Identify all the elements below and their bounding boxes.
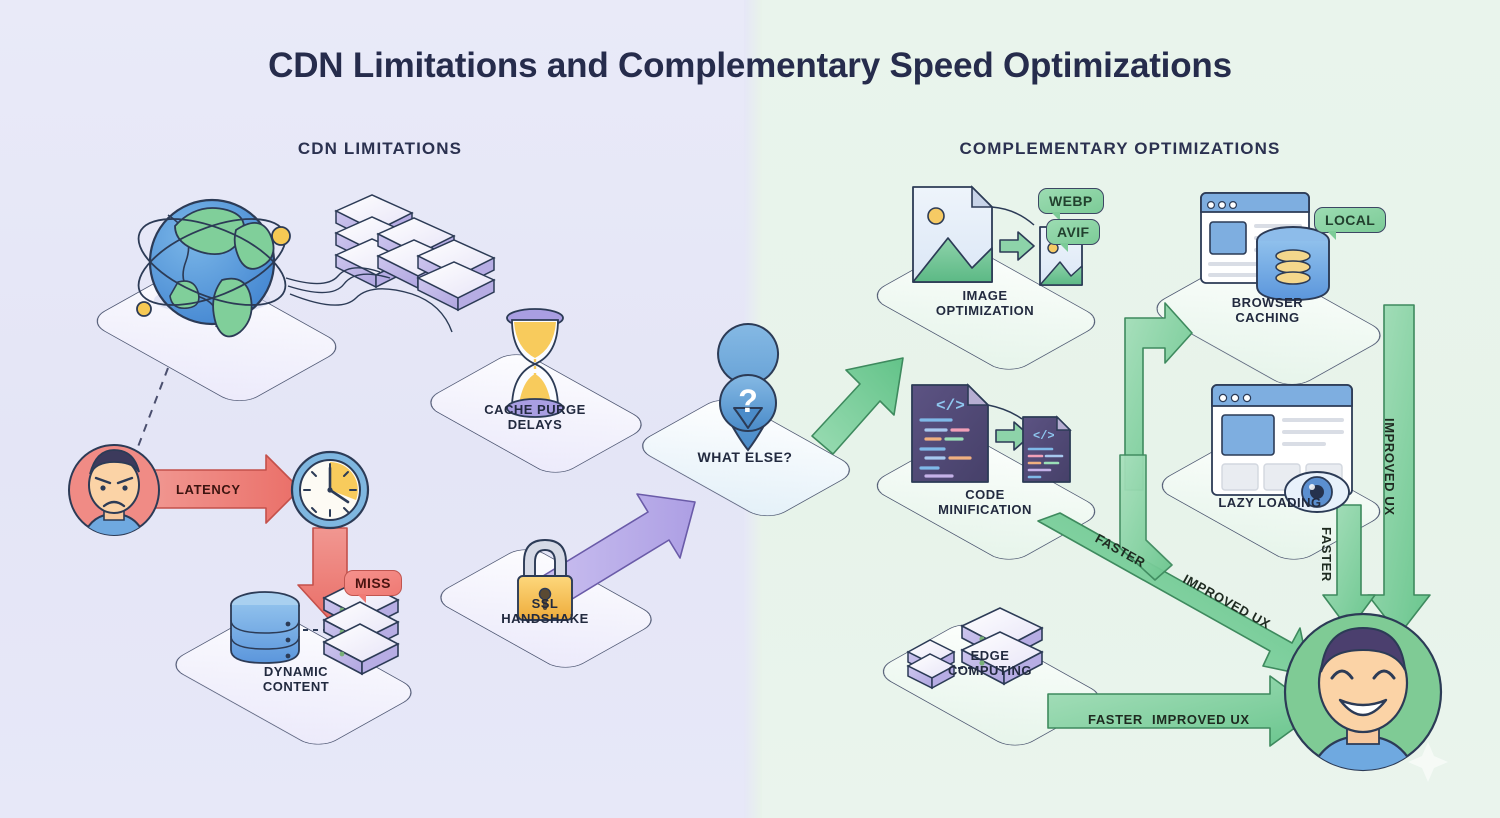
badge-local: LOCAL — [1314, 207, 1386, 233]
node-label-dynamic-content: DYNAMIC CONTENT — [196, 664, 396, 694]
node-label-lazy-loading: LAZY LOADING — [1175, 495, 1365, 510]
node-label-cache-purge-delays: CACHE PURGE DELAYS — [445, 402, 625, 432]
edge-computing-layer — [0, 0, 1500, 818]
node-label-what-else: WHAT ELSE? — [655, 450, 835, 465]
node-label-edge-computing: EDGE COMPUTING — [895, 648, 1085, 678]
avatar-happy-user — [1285, 614, 1448, 814]
arrow-label-latency: LATENCY — [176, 482, 241, 497]
arrow-label-edge-faster: FASTER — [1088, 712, 1143, 727]
badge-miss: MISS — [344, 570, 402, 596]
node-label-browser-caching: BROWSER CACHING — [1170, 295, 1365, 325]
node-label-code-minification: CODE MINIFICATION — [890, 487, 1080, 517]
node-label-image-optimization: IMAGE OPTIMIZATION — [890, 288, 1080, 318]
arrow-label-lazy-faster: FASTER — [1319, 527, 1334, 582]
badge-avif: AVIF — [1046, 219, 1100, 245]
arrow-label-edge-ux: IMPROVED UX — [1152, 712, 1250, 727]
arrow-label-browser-ux: IMPROVED UX — [1382, 418, 1397, 516]
badge-webp: WEBP — [1038, 188, 1104, 214]
infographic-canvas: CDN Limitations and Complementary Speed … — [0, 0, 1500, 818]
node-label-ssl-handshake: SSL HANDSHAKE — [455, 596, 635, 626]
